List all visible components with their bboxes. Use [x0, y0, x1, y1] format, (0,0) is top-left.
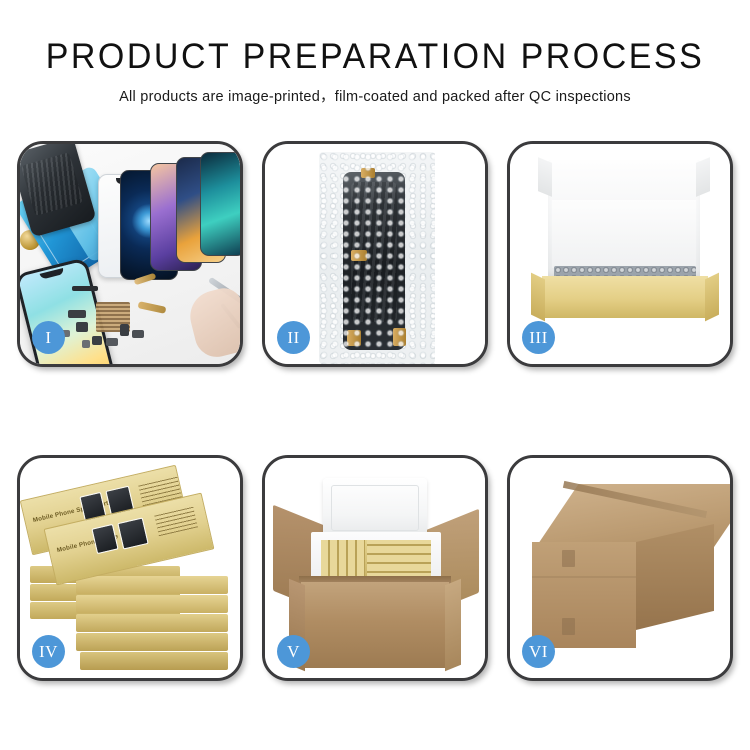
step-panel-1: I [17, 141, 243, 367]
packed-kraft-boxes-icon [321, 540, 431, 580]
step-badge-6: VI [522, 635, 555, 668]
carton-tab-top-icon [562, 550, 575, 567]
step-panel-4: Mobile Phone Spare Parts Mobile Phone Sp… [17, 455, 243, 681]
step-panel-5: V [262, 455, 488, 681]
small-part-6-icon [82, 340, 90, 348]
flex-cable-1-icon [138, 301, 167, 314]
step-badge-4: IV [32, 635, 65, 668]
step-badge-5: V [277, 635, 310, 668]
carton-front-face-icon [532, 542, 636, 648]
connector-strip-icon [72, 286, 98, 291]
small-part-4-icon [106, 338, 118, 346]
page-title: PRODUCT PREPARATION PROCESS [11, 38, 739, 76]
stacked-box-bottom [80, 652, 228, 670]
stacked-box-3b [76, 576, 228, 594]
small-part-2-icon [76, 322, 88, 332]
step-panel-2: II [262, 141, 488, 367]
carton-crease-icon [532, 576, 636, 578]
header: PRODUCT PREPARATION PROCESS All products… [0, 0, 750, 106]
foam-sheet-icon [552, 200, 696, 268]
carton-side-face-icon [636, 524, 714, 630]
carton-tab-bottom-icon [562, 618, 575, 635]
step-panel-6: VI [507, 455, 733, 681]
foam-lid-icon [323, 478, 427, 540]
shipping-carton-icon [301, 582, 449, 668]
bubble-wrap-overlay-icon [319, 152, 435, 364]
step-badge-2: II [277, 321, 310, 354]
small-part-3-icon [92, 336, 102, 345]
step-badge-1: I [32, 321, 65, 354]
stacked-box-1b [76, 614, 228, 632]
small-part-7-icon [132, 330, 144, 338]
small-part-5-icon [120, 324, 129, 336]
product-preparation-infographic: PRODUCT PREPARATION PROCESS All products… [0, 0, 750, 750]
step-badge-3: III [522, 321, 555, 354]
small-part-1-icon [68, 310, 86, 318]
phone-screen-teal-icon [200, 152, 240, 256]
page-subtitle: All products are image-printed，film-coat… [0, 85, 750, 106]
step-panel-3: III [507, 141, 733, 367]
process-steps-grid: I II III [17, 141, 733, 681]
hand-icon [185, 284, 240, 361]
stacked-box-2b [76, 595, 228, 613]
kraft-box-tray-icon [542, 276, 708, 318]
stacked-box-0b [76, 633, 228, 651]
